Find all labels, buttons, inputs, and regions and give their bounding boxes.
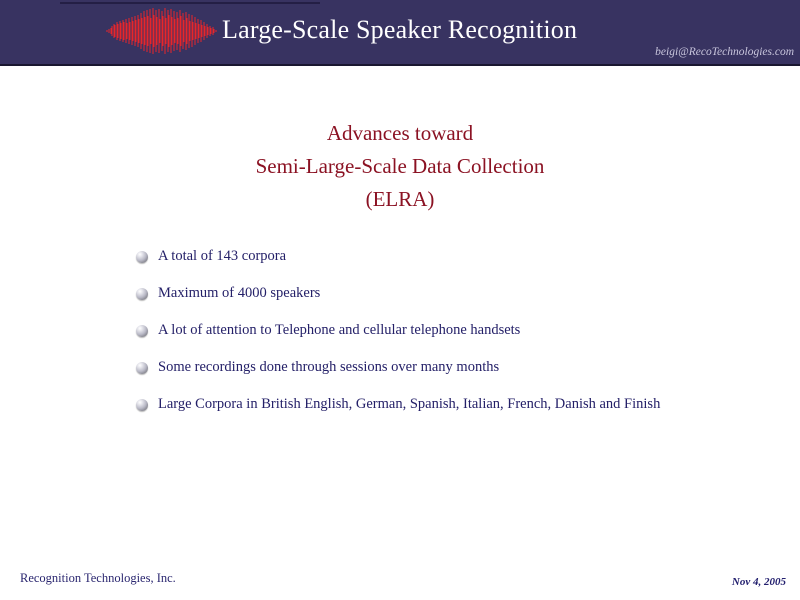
list-item-label: Maximum of 4000 speakers — [158, 284, 776, 303]
footer-company-name: Recognition Technologies, Inc. — [20, 570, 176, 586]
list-item: A lot of attention to Telephone and cell… — [136, 321, 776, 358]
list-item: Some recordings done through sessions ov… — [136, 358, 776, 395]
page-title-line-2: Semi-Large-Scale Data Collection — [0, 150, 800, 183]
list-item: A total of 143 corpora — [136, 247, 776, 284]
list-item-label: Some recordings done through sessions ov… — [158, 358, 776, 377]
list-item-label: A total of 143 corpora — [158, 247, 776, 266]
footer-date: Nov 4, 2005 — [732, 575, 786, 589]
sphere-bullet-icon — [136, 399, 148, 411]
list-item: Maximum of 4000 speakers — [136, 284, 776, 321]
page-title-line-3: (ELRA) — [0, 183, 800, 216]
header-email: beigi@RecoTechnologies.com — [655, 45, 794, 59]
list-item-label: Large Corpora in British English, German… — [158, 395, 776, 414]
header-top-rule — [60, 2, 320, 4]
sphere-bullet-icon — [136, 251, 148, 263]
list-item-label: A lot of attention to Telephone and cell… — [158, 321, 776, 340]
audio-waveform-icon — [106, 6, 218, 56]
list-item: Large Corpora in British English, German… — [136, 395, 776, 432]
sphere-bullet-icon — [136, 362, 148, 374]
sphere-bullet-icon — [136, 288, 148, 300]
slide-header-band: Large-Scale Speaker Recognition beigi@Re… — [0, 0, 800, 64]
bullet-list: A total of 143 corpora Maximum of 4000 s… — [136, 247, 776, 432]
page-title-line-1: Advances toward — [0, 117, 800, 150]
page-title: Advances toward Semi-Large-Scale Data Co… — [0, 117, 800, 216]
header-title: Large-Scale Speaker Recognition — [222, 13, 577, 47]
sphere-bullet-icon — [136, 325, 148, 337]
header-bottom-rule — [0, 64, 800, 66]
